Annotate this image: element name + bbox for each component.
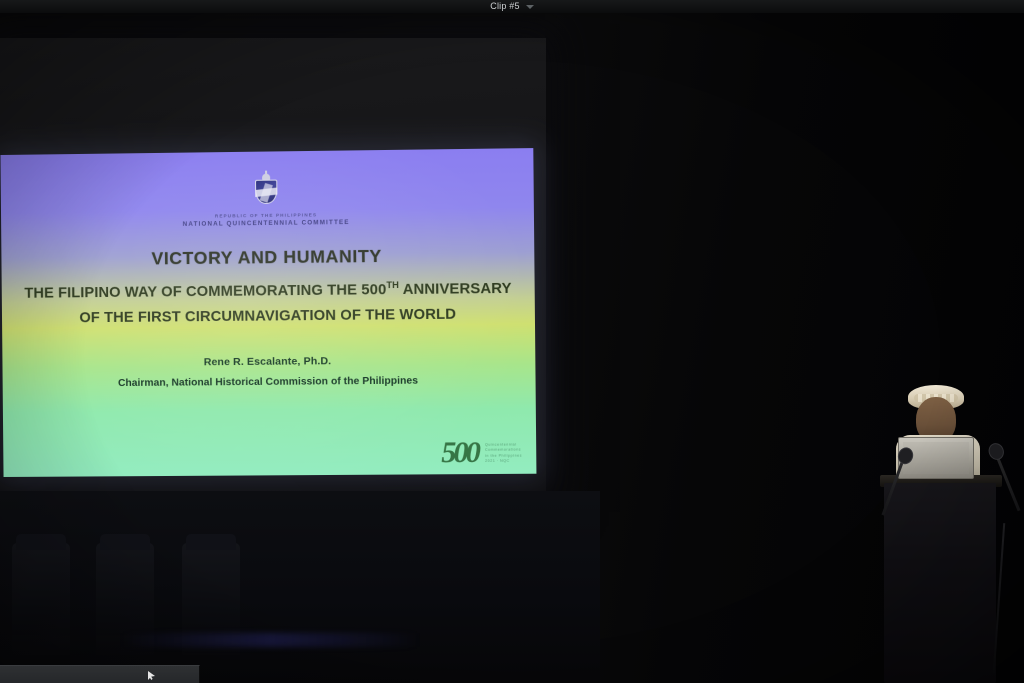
slide-subtitle-line-1-pre: THE FILIPINO WAY OF COMMEMORATING THE 50…: [24, 282, 386, 302]
floor-light-glow: [120, 633, 420, 647]
logo-text-line-2: Commemorations: [485, 448, 522, 452]
clip-title: Clip #5: [490, 0, 519, 13]
logo-500-mark: 500: [441, 438, 478, 469]
slide-speaker-name: Rene R. Escalante, Ph.D.: [204, 355, 332, 368]
stage-chair: [12, 543, 70, 655]
slide-subtitle-ordinal: TH: [386, 280, 399, 290]
slide-subtitle: THE FILIPINO WAY OF COMMEMORATING THE 50…: [24, 277, 512, 332]
video-frame: REPUBLIC OF THE PHILIPPINES NATIONAL QUI…: [0, 0, 1024, 683]
podium-area: [880, 413, 1024, 683]
slide-subtitle-line-2: OF THE FIRST CIRCUMNAVIGATION OF THE WOR…: [24, 302, 511, 332]
logo-text-line-3: in the Philippines: [485, 453, 522, 457]
quincentennial-logo: 500 Quincentennial Commemorations in the…: [441, 437, 522, 468]
podium: [884, 483, 996, 683]
stage-floor: [0, 491, 600, 683]
chevron-down-icon[interactable]: [526, 5, 534, 9]
player-titlebar: Clip #5: [0, 0, 1024, 13]
presentation-slide: REPUBLIC OF THE PHILIPPINES NATIONAL QUI…: [0, 148, 536, 477]
mouse-cursor-icon: [148, 671, 155, 680]
philippines-seal-icon: [252, 174, 279, 206]
auditorium-scene: REPUBLIC OF THE PHILIPPINES NATIONAL QUI…: [0, 13, 1024, 683]
slide-title: VICTORY AND HUMANITY: [151, 246, 382, 270]
slide-speaker-role: Chairman, National Historical Commission…: [118, 376, 418, 390]
slide-org-line-2: NATIONAL QUINCENTENNIAL COMMITTEE: [183, 219, 350, 228]
logo-text-line-4: 2021 · NQC: [485, 459, 522, 463]
logo-500-text: Quincentennial Commemorations in the Phi…: [485, 442, 522, 463]
slide-subtitle-line-1-post: ANNIVERSARY: [399, 281, 512, 298]
logo-text-line-1: Quincentennial: [485, 442, 522, 446]
slide-org-line-1: REPUBLIC OF THE PHILIPPINES: [215, 212, 317, 218]
player-controls-strip[interactable]: [0, 665, 200, 683]
